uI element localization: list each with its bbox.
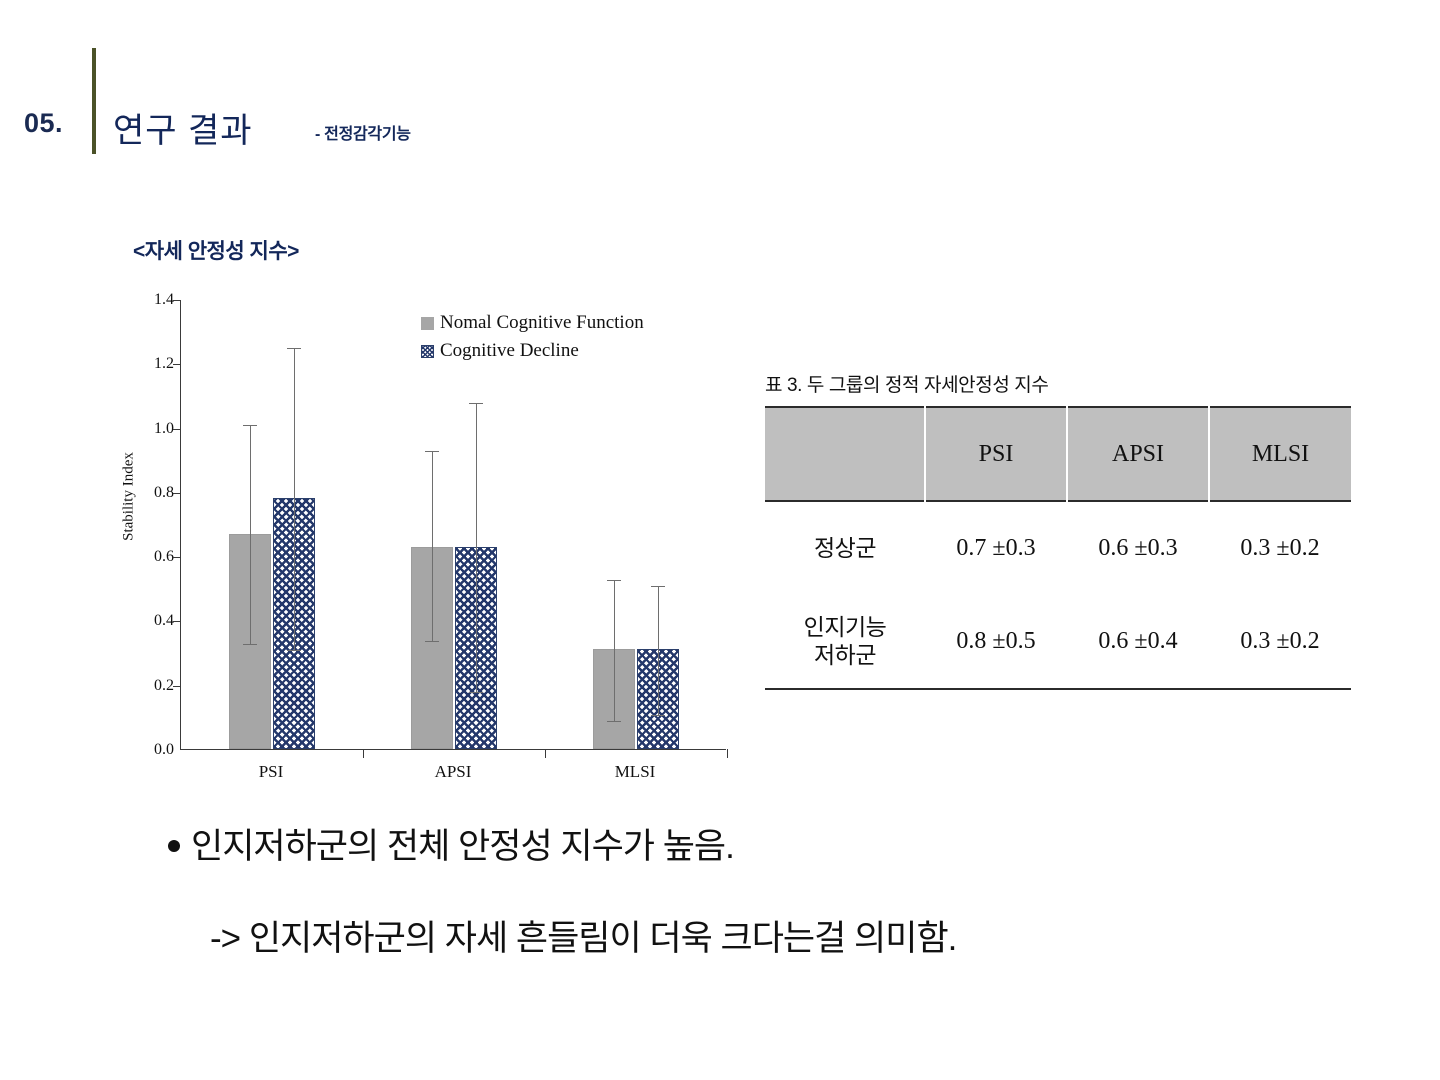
chart-caption: <자세 안정성 지수> xyxy=(133,235,299,265)
conclusion-block: 인지저하군의 전체 안정성 지수가 높음. -> 인지저하군의 자세 흔들림이 … xyxy=(168,818,1368,961)
error-bar-cap-top xyxy=(651,586,665,587)
y-tick-label: 0.6 xyxy=(128,548,174,566)
error-bar-line xyxy=(250,425,251,644)
error-bar-cap-bottom xyxy=(425,641,439,642)
error-bar-cap-top xyxy=(425,451,439,452)
table-row-label-decline-line1: 인지기능 xyxy=(765,614,925,641)
table-header-row: PSI APSI MLSI xyxy=(765,407,1351,501)
y-tick-label: 0.4 xyxy=(128,612,174,630)
error-bar-cap-top xyxy=(607,580,621,581)
y-tick-label: 0.2 xyxy=(128,677,174,695)
x-axis-end-tick xyxy=(727,749,728,758)
x-tick-label-apsi: APSI xyxy=(362,762,544,782)
table-cell-decline-mlsi: 0.3 ±0.2 xyxy=(1209,595,1351,689)
bullet-line-1: 인지저하군의 전체 안정성 지수가 높음. xyxy=(168,818,1368,869)
y-tick-label: 1.2 xyxy=(128,355,174,373)
y-tick-mark xyxy=(173,300,181,301)
chart-legend: Nomal Cognitive Function Cognitive Decli… xyxy=(421,312,644,368)
legend-swatch-decline-icon xyxy=(421,345,434,358)
error-bar-cap-top xyxy=(287,348,301,349)
table-col-header-mlsi: MLSI xyxy=(1209,407,1351,501)
table-cell-normal-psi: 0.7 ±0.3 xyxy=(925,501,1067,595)
y-axis-labels: 0.00.20.40.60.81.01.21.4 xyxy=(96,300,174,750)
legend-label-decline: Cognitive Decline xyxy=(440,340,579,362)
x-axis-separator xyxy=(545,749,546,758)
table-head: PSI APSI MLSI xyxy=(765,407,1351,501)
header-divider xyxy=(92,48,96,154)
legend-item-normal: Nomal Cognitive Function xyxy=(421,312,644,334)
table-row-label-decline-line2: 저하군 xyxy=(765,642,925,669)
slide-header: 05. 연구 결과 - 전정감각기능 xyxy=(0,0,1440,190)
error-bar-line xyxy=(614,580,615,721)
legend-label-normal: Nomal Cognitive Function xyxy=(440,312,644,334)
y-tick-mark xyxy=(173,621,181,622)
page-title: 연구 결과 xyxy=(113,103,253,152)
y-tick-mark xyxy=(173,429,181,430)
bullet-dot-icon xyxy=(168,840,180,852)
y-tick-mark xyxy=(173,493,181,494)
table-col-header-blank xyxy=(765,407,925,501)
y-tick-label: 0.8 xyxy=(128,484,174,502)
table-row: 정상군 0.7 ±0.3 0.6 ±0.3 0.3 ±0.2 xyxy=(765,501,1351,595)
table-cell-decline-apsi: 0.6 ±0.4 xyxy=(1067,595,1209,689)
table-caption: 표 3. 두 그룹의 정적 자세안정성 지수 xyxy=(765,370,1351,397)
legend-item-decline: Cognitive Decline xyxy=(421,340,644,362)
error-bar-cap-bottom xyxy=(243,644,257,645)
table-row-label-decline: 인지기능 저하군 xyxy=(765,595,925,689)
table-cell-decline-psi: 0.8 ±0.5 xyxy=(925,595,1067,689)
y-tick-mark xyxy=(173,557,181,558)
x-axis-separator xyxy=(363,749,364,758)
table-cell-normal-apsi: 0.6 ±0.3 xyxy=(1067,501,1209,595)
table-col-header-psi: PSI xyxy=(925,407,1067,501)
x-tick-label-mlsi: MLSI xyxy=(544,762,726,782)
table-col-header-apsi: APSI xyxy=(1067,407,1209,501)
bar-chart: Stability Index 0.00.20.40.60.81.01.21.4… xyxy=(96,300,726,790)
x-tick-label-psi: PSI xyxy=(180,762,362,782)
y-tick-label: 1.0 xyxy=(128,420,174,438)
section-number: 05. xyxy=(24,108,63,139)
results-table-block: 표 3. 두 그룹의 정적 자세안정성 지수 PSI APSI MLSI 정상군… xyxy=(765,370,1351,690)
error-bar-cap-bottom xyxy=(607,721,621,722)
table-row-label-normal: 정상군 xyxy=(765,501,925,595)
error-bar-cap-top xyxy=(243,425,257,426)
table-body: 정상군 0.7 ±0.3 0.6 ±0.3 0.3 ±0.2 인지기능 저하군 … xyxy=(765,501,1351,689)
table-row: 인지기능 저하군 0.8 ±0.5 0.6 ±0.4 0.3 ±0.2 xyxy=(765,595,1351,689)
results-table: PSI APSI MLSI 정상군 0.7 ±0.3 0.6 ±0.3 0.3 … xyxy=(765,406,1351,690)
error-bar-line xyxy=(476,403,477,692)
y-tick-mark xyxy=(173,686,181,687)
y-tick-label: 0.0 xyxy=(128,741,174,759)
error-bar-line xyxy=(294,348,295,650)
legend-swatch-normal-icon xyxy=(421,317,434,330)
table-cell-normal-mlsi: 0.3 ±0.2 xyxy=(1209,501,1351,595)
error-bar-line xyxy=(658,586,659,715)
error-bar-cap-top xyxy=(469,403,483,404)
error-bar-line xyxy=(432,451,433,641)
bullet-line-2: -> 인지저하군의 자세 흔들림이 더욱 크다는걸 의미함. xyxy=(210,910,1368,961)
error-bar-cap-bottom xyxy=(469,692,483,693)
error-bar-cap-bottom xyxy=(651,715,665,716)
bullet-line-1-text: 인지저하군의 전체 안정성 지수가 높음. xyxy=(191,827,734,866)
error-bar-cap-bottom xyxy=(287,650,301,651)
page-subtitle: - 전정감각기능 xyxy=(315,120,411,144)
y-tick-mark xyxy=(173,364,181,365)
y-tick-label: 1.4 xyxy=(128,291,174,309)
